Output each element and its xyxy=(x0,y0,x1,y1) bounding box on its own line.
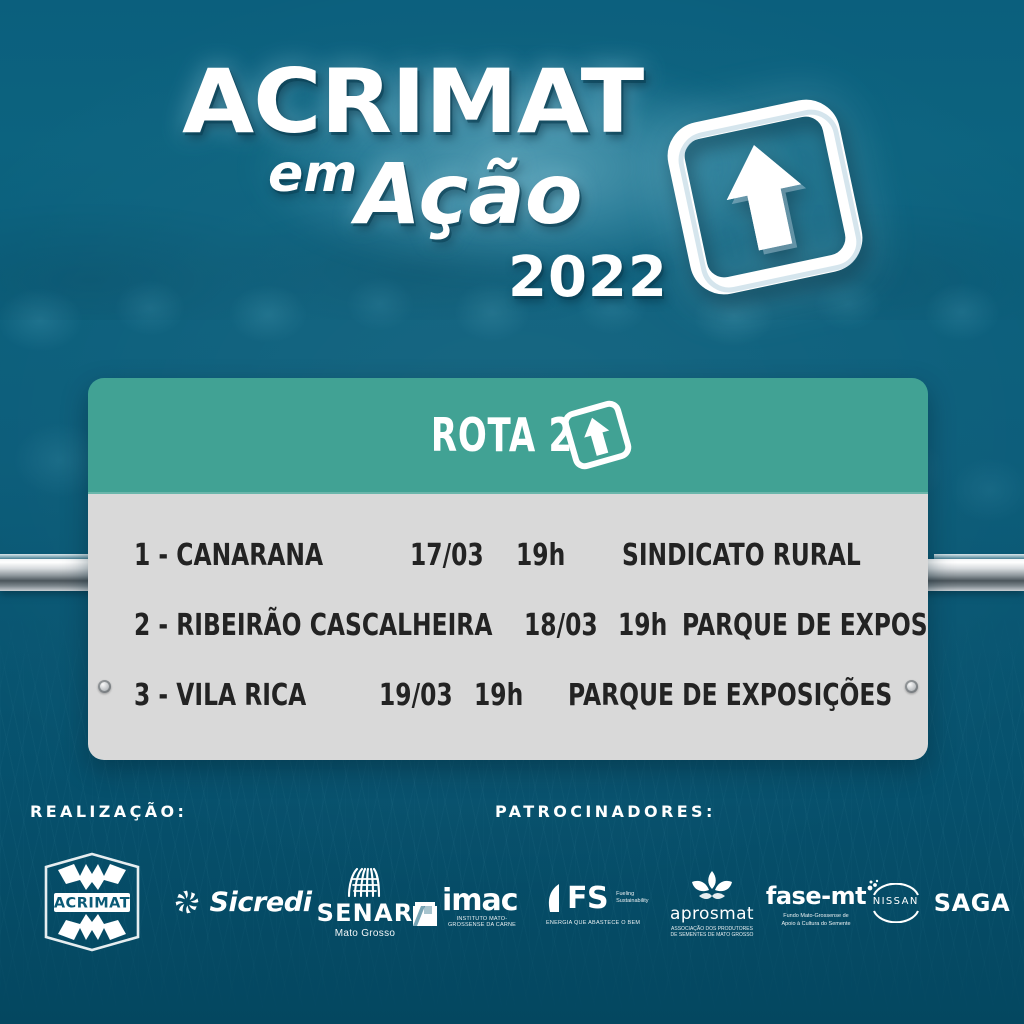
logo-aprosmat[interactable]: aprosmat ASSOCIAÇÃO DOS PRODUTORESDE SEM… xyxy=(660,866,764,942)
row-venue: PARQUE DE EXPOSIÇÕES xyxy=(682,608,928,643)
patrocinadores-label: PATROCINADORES: xyxy=(495,802,716,821)
sponsor-logo-strip: ACRIMAT Sicre xyxy=(0,848,1024,958)
row-venue: PARQUE DE EXPOSIÇÕES xyxy=(568,678,849,713)
table-row[interactable]: 3 - VILA RICA 19/03 19h PARQUE DE EXPOSI… xyxy=(88,660,928,730)
credits-headings: REALIZAÇÃO: PATROCINADORES: xyxy=(0,798,1024,838)
row-city: 3 - VILA RICA xyxy=(134,678,325,713)
svg-text:ACRIMAT: ACRIMAT xyxy=(54,896,130,912)
fs-tagline: FuelingSustainability xyxy=(616,891,648,905)
logo-imac[interactable]: imac INSTITUTO MATO-GROSSENSE DA CARNE xyxy=(412,878,522,928)
logo-acrimat[interactable]: ACRIMAT xyxy=(34,850,150,954)
row-time: 19h xyxy=(474,678,548,713)
nissan-wordmark: NISSAN xyxy=(868,896,924,907)
imac-text-block: imac INSTITUTO MATO-GROSSENSE DA CARNE xyxy=(442,887,522,929)
aprosmat-subtitle: ASSOCIAÇÃO DOS PRODUTORESDE SEMENTES DE … xyxy=(671,926,754,939)
row-time: 19h xyxy=(516,538,599,573)
poster-canvas: ACRIMAT em Ação 2022 ROTA 2 xyxy=(0,0,1024,1024)
schedule-panel-header: ROTA 2 xyxy=(88,378,928,494)
arrow-up-sign-icon xyxy=(660,92,870,302)
senar-wheat-icon xyxy=(343,867,387,897)
nissan-icon: NISSAN xyxy=(868,883,924,923)
table-row[interactable]: 1 - CANARANA 17/03 19h SINDICATO RURAL xyxy=(88,520,928,590)
fs-lockup: FS FuelingSustainability xyxy=(546,881,649,916)
senar-subtitle: Mato Grosso xyxy=(335,928,396,939)
realizacao-label: REALIZAÇÃO: xyxy=(30,802,187,821)
sicredi-swirl-icon xyxy=(174,889,200,915)
panel-bolt-right xyxy=(905,680,918,693)
brand-year: 2022 xyxy=(508,250,668,306)
senar-wordmark: SENAR xyxy=(317,899,414,927)
route-title: ROTA 2 xyxy=(431,408,573,462)
panel-bolt-left xyxy=(98,680,111,693)
logo-fase-mt[interactable]: fase-mt Fundo Mato-Grossense deApoio à C… xyxy=(762,876,870,934)
fs-wordmark: FS xyxy=(567,881,608,916)
imac-subtitle: INSTITUTO MATO-GROSSENSE DA CARNE xyxy=(442,916,522,928)
imac-mark-icon xyxy=(412,900,438,928)
brand-wordmark: ACRIMAT em Ação 2022 xyxy=(160,52,670,312)
row-date: 18/03 xyxy=(524,608,598,643)
row-city: 2 - RIBEIRÃO CASCALHEIRA xyxy=(134,608,438,643)
row-date: 17/03 xyxy=(410,538,493,573)
row-time: 19h xyxy=(618,608,667,643)
logo-senar[interactable]: SENAR Mato Grosso xyxy=(310,864,420,942)
fs-subtitle: ENERGIA QUE ABASTECE O BEM xyxy=(546,920,640,926)
logo-sicredi[interactable]: Sicredi xyxy=(178,880,308,924)
brand-tagline-em: em xyxy=(268,148,357,200)
aprosmat-leaf-icon xyxy=(689,870,735,902)
table-row[interactable]: 2 - RIBEIRÃO CASCALHEIRA 18/03 19h PARQU… xyxy=(88,590,928,660)
fs-leaf-icon xyxy=(546,883,561,913)
imac-wordmark: imac xyxy=(442,887,518,916)
row-date: 19/03 xyxy=(379,678,453,713)
fasemt-wordmark: fase-mt xyxy=(766,882,866,910)
fasemt-subtitle: Fundo Mato-Grossense deApoio à Cultura d… xyxy=(781,913,850,928)
schedule-list: 1 - CANARANA 17/03 19h SINDICATO RURAL 2… xyxy=(88,494,928,760)
schedule-panel: ROTA 2 1 - CANARANA 17/03 19h SINDICATO … xyxy=(88,378,928,760)
brand-name: ACRIMAT xyxy=(182,58,643,146)
logo-nissan-saga[interactable]: NISSAN SAGA xyxy=(876,880,1002,926)
sicredi-wordmark: Sicredi xyxy=(209,887,311,918)
brand-tagline-acao: Ação xyxy=(356,152,583,236)
logo-fs[interactable]: FS FuelingSustainability ENERGIA QUE ABA… xyxy=(546,872,656,934)
aprosmat-wordmark: aprosmat xyxy=(670,904,754,924)
row-city: 1 - CANARANA xyxy=(134,538,349,573)
saga-wordmark: SAGA xyxy=(934,889,1011,917)
brand-lockup: ACRIMAT em Ação 2022 xyxy=(0,52,1024,322)
row-venue: SINDICATO RURAL xyxy=(622,538,861,573)
